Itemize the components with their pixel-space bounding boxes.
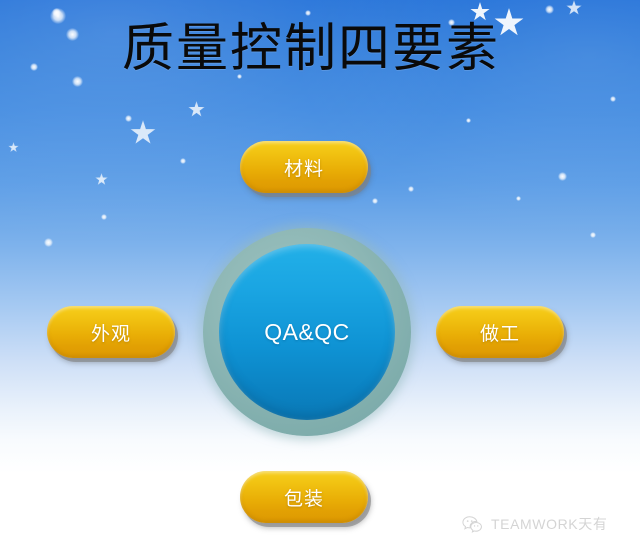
watermark-text: TEAMWORK天有: [491, 514, 607, 534]
center-node-qa-qc[interactable]: QA&QC: [203, 228, 411, 436]
bokeh-dot: [610, 96, 616, 102]
node-material-label: 材料: [284, 154, 324, 181]
wechat-bubble-icon: [462, 515, 484, 534]
node-workmanship-label: 做工: [480, 319, 520, 346]
node-appearance-label: 外观: [91, 319, 131, 346]
star-icon: [95, 173, 108, 186]
bokeh-dot: [372, 198, 378, 204]
node-workmanship[interactable]: 做工: [436, 306, 564, 358]
node-packaging[interactable]: 包装: [240, 471, 368, 523]
bokeh-dot: [101, 214, 107, 220]
bokeh-dot: [516, 196, 521, 201]
center-node-inner: QA&QC: [219, 244, 395, 420]
star-icon: [130, 120, 156, 146]
slide-canvas: 质量控制四要素 QA&QC 材料 外观 做工 包装 TEAMWORK天有: [0, 0, 640, 551]
bokeh-dot: [44, 238, 53, 247]
bokeh-dot: [590, 232, 596, 238]
bokeh-dot: [466, 118, 471, 123]
bokeh-dot: [66, 28, 79, 41]
node-appearance[interactable]: 外观: [47, 306, 175, 358]
center-node-label: QA&QC: [264, 319, 350, 346]
bokeh-dot: [52, 8, 61, 17]
star-icon: [566, 0, 582, 16]
bokeh-dot: [305, 10, 311, 16]
bokeh-dot: [408, 186, 414, 192]
star-icon: [188, 101, 205, 118]
bokeh-dot: [50, 8, 66, 24]
star-icon: [470, 2, 490, 22]
watermark: TEAMWORK天有: [462, 514, 607, 534]
bokeh-dot: [558, 172, 567, 181]
star-icon: [8, 142, 19, 153]
bokeh-dot: [72, 76, 83, 87]
page-title: 质量控制四要素: [122, 21, 500, 77]
bokeh-dot: [125, 115, 132, 122]
bokeh-dot: [545, 5, 554, 14]
bokeh-dot: [180, 158, 186, 164]
bokeh-dot: [30, 63, 38, 71]
node-packaging-label: 包装: [284, 484, 324, 511]
node-material[interactable]: 材料: [240, 141, 368, 193]
